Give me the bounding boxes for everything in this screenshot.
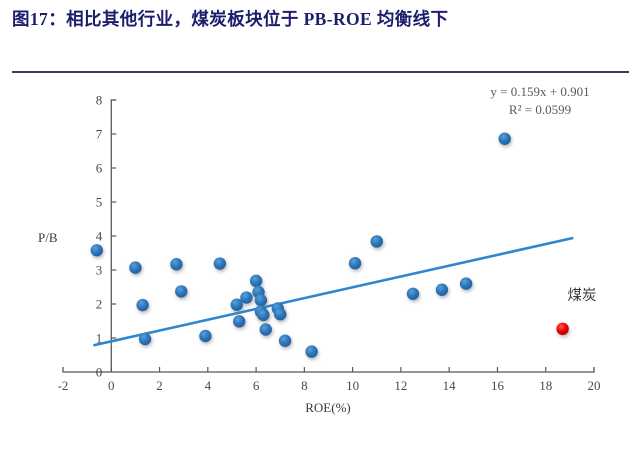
x-axis-title: ROE(%) (305, 400, 351, 415)
industry-data-point (233, 315, 245, 327)
y-tick-label: 2 (96, 297, 103, 312)
x-tick-label: 6 (253, 378, 260, 393)
industry-data-point (407, 288, 419, 300)
y-tick-label: 0 (96, 365, 103, 380)
industry-data-point (170, 258, 182, 270)
industry-data-point (305, 345, 317, 357)
y-tick-label: 6 (96, 161, 103, 176)
industry-data-point (250, 275, 262, 287)
equation-annotation: y = 0.159x + 0.901 (490, 84, 589, 99)
industry-data-point (91, 244, 103, 256)
x-tick-label: 16 (491, 378, 505, 393)
r-squared-annotation: R² = 0.0599 (509, 102, 571, 117)
industry-data-point (260, 323, 272, 335)
coal-series-label: 煤炭 (568, 287, 597, 304)
x-tick-label: -2 (58, 378, 69, 393)
y-tick-label: 8 (96, 93, 103, 108)
x-tick-label: 12 (394, 378, 407, 393)
scatter-points-layer (91, 133, 569, 358)
industry-data-point (136, 299, 148, 311)
industry-data-point (175, 285, 187, 297)
x-tick-label: 0 (108, 378, 115, 393)
x-tick-label: 2 (156, 378, 163, 393)
regression-line (94, 238, 572, 345)
x-tick-label: 20 (588, 378, 601, 393)
industry-data-point (279, 335, 291, 347)
y-tick-label: 3 (96, 263, 103, 278)
x-tick-label: 14 (443, 378, 457, 393)
y-tick-label: 5 (96, 195, 103, 210)
industry-data-point (274, 308, 286, 320)
scatter-chart: 012345678-202468101214161820 P/B ROE(%) … (0, 78, 641, 433)
industry-data-point (240, 291, 252, 303)
industry-data-point (498, 133, 510, 145)
page-title: 图17：相比其他行业，煤炭板块位于 PB-ROE 均衡线下 (12, 6, 630, 33)
title-divider (12, 71, 629, 73)
industry-data-point (214, 257, 226, 269)
coal-data-point (556, 323, 568, 335)
chart-axes: 012345678-202468101214161820 (58, 93, 601, 394)
industry-data-point (129, 261, 141, 273)
industry-data-point (139, 333, 151, 345)
industry-data-point (460, 277, 472, 289)
x-tick-label: 18 (539, 378, 552, 393)
industry-data-point (371, 235, 383, 247)
x-tick-label: 10 (346, 378, 359, 393)
industry-data-point (199, 330, 211, 342)
y-axis-title: P/B (38, 230, 58, 245)
chart-canvas: 012345678-202468101214161820 P/B ROE(%) … (0, 78, 641, 433)
x-tick-label: 8 (301, 378, 308, 393)
y-tick-label: 4 (96, 229, 103, 244)
industry-data-point (257, 309, 269, 321)
trend-line (94, 238, 572, 345)
industry-data-point (436, 284, 448, 296)
x-tick-label: 4 (205, 378, 212, 393)
industry-data-point (349, 257, 361, 269)
industry-data-point (255, 294, 267, 306)
y-tick-label: 7 (96, 127, 103, 142)
